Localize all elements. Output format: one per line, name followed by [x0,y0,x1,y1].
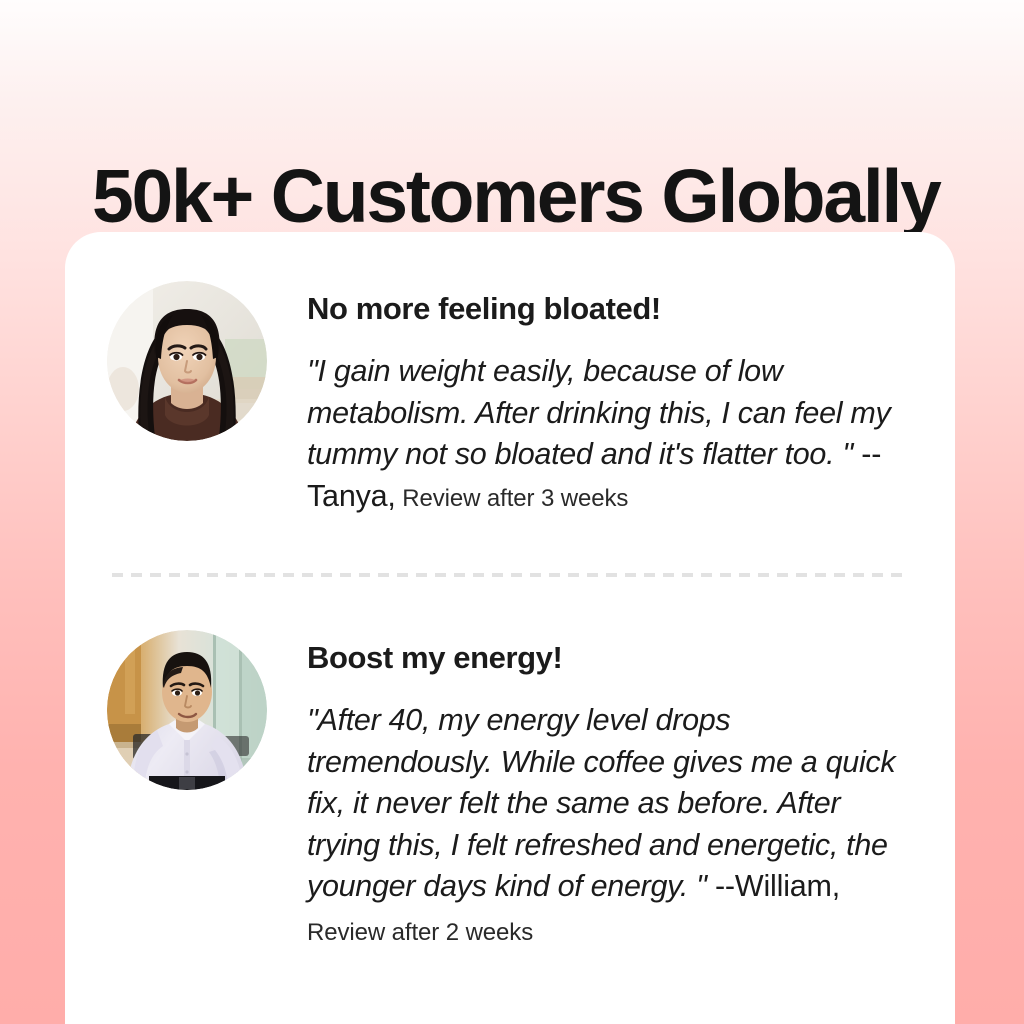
testimonial-quote: "I gain weight easily, because of low me… [307,351,919,519]
avatar-tanya [107,281,267,441]
testimonial-item: Boost my energy! "After 40, my energy le… [65,630,955,953]
avatar-tanya-image [107,281,267,441]
testimonial-body: Boost my energy! "After 40, my energy le… [307,630,919,953]
quote-text: "I gain weight easily, because of low me… [307,354,890,471]
testimonial-quote: "After 40, my energy level drops tremend… [307,700,919,953]
testimonials-card: No more feeling bloated! "I gain weight … [65,232,955,1024]
testimonial-body: No more feeling bloated! "I gain weight … [307,281,919,519]
quote-meta: Review after 3 weeks [396,485,629,512]
quote-meta: Review after 2 weeks [307,919,533,946]
avatar-william-image [107,630,267,790]
avatar-william [107,630,267,790]
dashed-divider [112,573,909,577]
testimonial-item: No more feeling bloated! "I gain weight … [65,281,955,519]
page-title: 50k+ Customers Globally [92,154,952,238]
quote-attribution: --William, [707,869,840,903]
testimonial-title: Boost my energy! [307,640,919,676]
testimonial-title: No more feeling bloated! [307,291,919,327]
testimonial-poster: 50k+ Customers Globally [0,0,1024,1024]
